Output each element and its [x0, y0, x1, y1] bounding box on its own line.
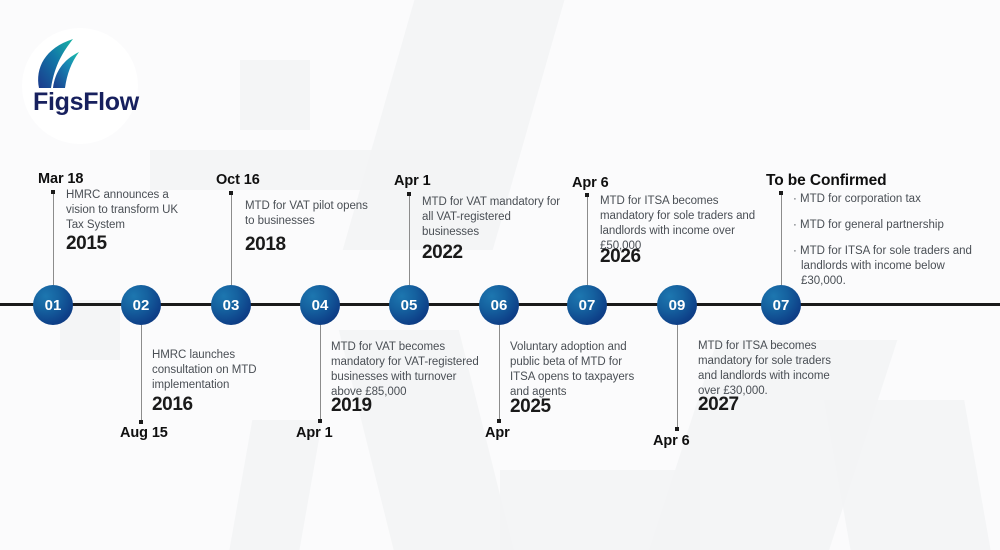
date-label-7: Apr 6 [572, 175, 609, 191]
connector-line-1 [53, 192, 54, 285]
timeline-node-1[interactable]: 01 [33, 285, 73, 325]
connector-line-2 [141, 325, 142, 422]
node-number: 01 [45, 297, 62, 314]
date-label-9: To be Confirmed [766, 172, 887, 190]
timeline-node-3[interactable]: 03 [211, 285, 251, 325]
year-label-2: 2016 [152, 394, 193, 416]
connector-dot-5 [407, 192, 411, 196]
date-label-8: Apr 6 [653, 433, 690, 449]
figsflow-swoosh-icon [33, 38, 99, 95]
connector-dot-1 [51, 190, 55, 194]
description-4: MTD for VAT becomes mandatory for VAT-re… [331, 340, 481, 400]
timeline-node-6[interactable]: 06 [479, 285, 519, 325]
description-2: HMRC launches consultation on MTD implem… [152, 348, 274, 393]
connector-dot-7 [585, 193, 589, 197]
year-label-7: 2026 [600, 246, 641, 268]
timeline-node-4[interactable]: 04 [300, 285, 340, 325]
timeline-node-8[interactable]: 09 [657, 285, 697, 325]
connector-dot-4 [318, 419, 322, 423]
year-label-1: 2015 [66, 233, 107, 255]
year-label-6: 2025 [510, 396, 551, 418]
date-label-3: Oct 16 [216, 172, 260, 188]
timeline-node-9[interactable]: 07 [761, 285, 801, 325]
connector-dot-9 [779, 191, 783, 195]
year-label-5: 2022 [422, 242, 463, 264]
description-3: MTD for VAT pilot opens to businesses [245, 199, 375, 229]
date-label-4: Apr 1 [296, 425, 333, 441]
tbc-bullet-item: · MTD for general partnership [793, 218, 985, 233]
node-number: 06 [491, 297, 508, 314]
connector-dot-3 [229, 191, 233, 195]
timeline-node-7[interactable]: 07 [567, 285, 607, 325]
brand-name: FigsFlow [33, 88, 139, 117]
brand-logo: FigsFlow [22, 28, 138, 144]
description-8: MTD for ITSA becomes mandatory for sole … [698, 339, 848, 399]
connector-line-3 [231, 193, 232, 285]
description-7: MTD for ITSA becomes mandatory for sole … [600, 194, 756, 254]
node-number: 03 [223, 297, 240, 314]
connector-dot-8 [675, 427, 679, 431]
year-label-3: 2018 [245, 234, 286, 256]
year-label-8: 2027 [698, 394, 739, 416]
connector-line-5 [409, 194, 410, 285]
connector-dot-2 [139, 420, 143, 424]
timeline-node-5[interactable]: 05 [389, 285, 429, 325]
connector-line-7 [587, 195, 588, 285]
tbc-bullet-list: · MTD for corporation tax · MTD for gene… [793, 192, 985, 289]
connector-line-6 [499, 325, 500, 421]
tbc-bullet-item: · MTD for corporation tax [793, 192, 985, 207]
node-number: 07 [579, 297, 596, 314]
timeline-node-2[interactable]: 02 [121, 285, 161, 325]
date-label-1: Mar 18 [38, 171, 83, 187]
date-label-2: Aug 15 [120, 425, 168, 441]
node-number: 07 [773, 297, 790, 314]
description-6: Voluntary adoption and public beta of MT… [510, 340, 648, 400]
description-5: MTD for VAT mandatory for all VAT-regist… [422, 195, 562, 240]
connector-dot-6 [497, 419, 501, 423]
date-label-5: Apr 1 [394, 173, 431, 189]
connector-line-9 [781, 193, 782, 285]
connector-line-8 [677, 325, 678, 429]
connector-line-4 [320, 325, 321, 421]
description-1: HMRC announces a vision to transform UK … [66, 188, 198, 233]
node-number: 04 [312, 297, 329, 314]
node-number: 05 [401, 297, 418, 314]
tbc-bullet-item: · MTD for ITSA for sole traders and land… [793, 244, 985, 289]
node-number: 02 [133, 297, 150, 314]
year-label-4: 2019 [331, 395, 372, 417]
date-label-6: Apr [485, 425, 510, 441]
node-number: 09 [669, 297, 686, 314]
timeline-infographic: FigsFlow 01 Mar 18 HMRC announces a visi… [0, 0, 1000, 550]
